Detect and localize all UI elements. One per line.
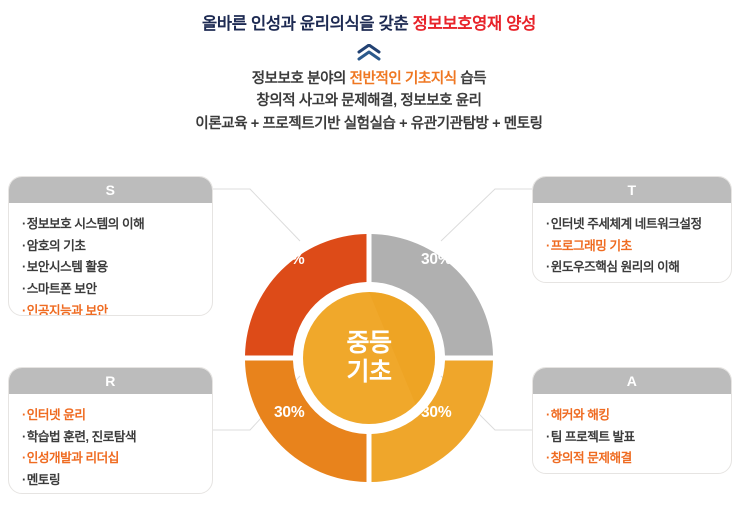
card-a-item-2: ·창의적 문제해결	[546, 448, 731, 470]
subtitle-line-1-pre: 정보보호 분야의	[252, 71, 350, 87]
page-title-plain: 올바른 인성과 윤리의식을 갖춘	[202, 15, 413, 33]
card-t-item-0: ·인터넷 주세체계 네트워크설정	[546, 214, 731, 236]
card-s-item-0: ·정보보호 시스템의 이해	[22, 214, 212, 236]
subtitle-line-3: 이론교육 + 프로젝트기반 실험실습 + 유관기관탐방 + 멘토링	[0, 113, 738, 135]
card-r-item-3: ·멘토링	[22, 470, 212, 492]
subtitle-line-1-post: 습득	[457, 71, 487, 87]
donut-label-r: 30%	[274, 404, 304, 422]
card-s-item-4: ·인공지능과 보안	[22, 301, 212, 316]
donut-label-a: 30%	[421, 404, 451, 422]
card-s-item-3: ·스마트폰 보안	[22, 279, 212, 301]
card-a-header: A	[533, 368, 731, 394]
card-r-item-1: ·학습법 훈련, 진로탐색	[22, 427, 212, 449]
card-r-item-2: ·인성개발과 리더십	[22, 448, 212, 470]
card-s[interactable]: S ·정보보호 시스템의 이해 ·암호의 기초 ·보안시스템 활용 ·스마트폰 …	[8, 176, 213, 316]
subtitle-block: 정보보호 분야의 전반적인 기초지식 습득 창의적 사고와 문제해결, 정보보호…	[0, 62, 738, 135]
header: 올바른 인성과 윤리의식을 갖춘 정보보호영재 양성 정보보호 분야의 전반적인…	[0, 0, 738, 135]
card-t-item-2: ·윈도우즈핵심 원리의 이해	[546, 257, 731, 279]
card-s-item-2: ·보안시스템 활용	[22, 257, 212, 279]
card-r-body: ·인터넷 윤리 ·학습법 훈련, 진로탐색 ·인성개발과 리더십 ·멘토링	[9, 394, 212, 494]
card-a-body: ·해커와 해킹 ·팀 프로젝트 발표 ·창의적 문제해결	[533, 394, 731, 474]
donut-chart-svg	[243, 232, 495, 484]
card-a-item-0: ·해커와 해킹	[546, 405, 731, 427]
card-t-body: ·인터넷 주세체계 네트워크설정 ·프로그래밍 기초 ·윈도우즈핵심 원리의 이…	[533, 203, 731, 283]
card-r-item-0: ·인터넷 윤리	[22, 405, 212, 427]
card-t[interactable]: T ·인터넷 주세체계 네트워크설정 ·프로그래밍 기초 ·윈도우즈핵심 원리의…	[532, 176, 732, 283]
subtitle-line-1-accent: 전반적인 기초지식	[350, 71, 457, 87]
card-a[interactable]: A ·해커와 해킹 ·팀 프로젝트 발표 ·창의적 문제해결	[532, 367, 732, 474]
donut-chart: 중등 기초	[243, 232, 495, 484]
card-s-header: S	[9, 177, 212, 203]
card-s-body: ·정보보호 시스템의 이해 ·암호의 기초 ·보안시스템 활용 ·스마트폰 보안…	[9, 203, 212, 316]
card-t-header: T	[533, 177, 731, 203]
card-r-header: R	[9, 368, 212, 394]
double-chevron-up-icon	[0, 44, 738, 62]
card-s-item-1: ·암호의 기초	[22, 236, 212, 258]
card-r[interactable]: R ·인터넷 윤리 ·학습법 훈련, 진로탐색 ·인성개발과 리더십 ·멘토링	[8, 367, 213, 494]
subtitle-line-2: 창의적 사고와 문제해결, 정보보호 윤리	[0, 90, 738, 112]
card-a-item-1: ·팀 프로젝트 발표	[546, 427, 731, 449]
donut-label-s: 10%	[274, 251, 304, 269]
card-t-item-1: ·프로그래밍 기초	[546, 236, 731, 258]
subtitle-line-1: 정보보호 분야의 전반적인 기초지식 습득	[0, 68, 738, 90]
donut-label-t: 30%	[421, 251, 451, 269]
page-title-accent: 정보보호영재 양성	[413, 15, 536, 33]
page-title: 올바른 인성과 윤리의식을 갖춘 정보보호영재 양성	[0, 0, 738, 35]
